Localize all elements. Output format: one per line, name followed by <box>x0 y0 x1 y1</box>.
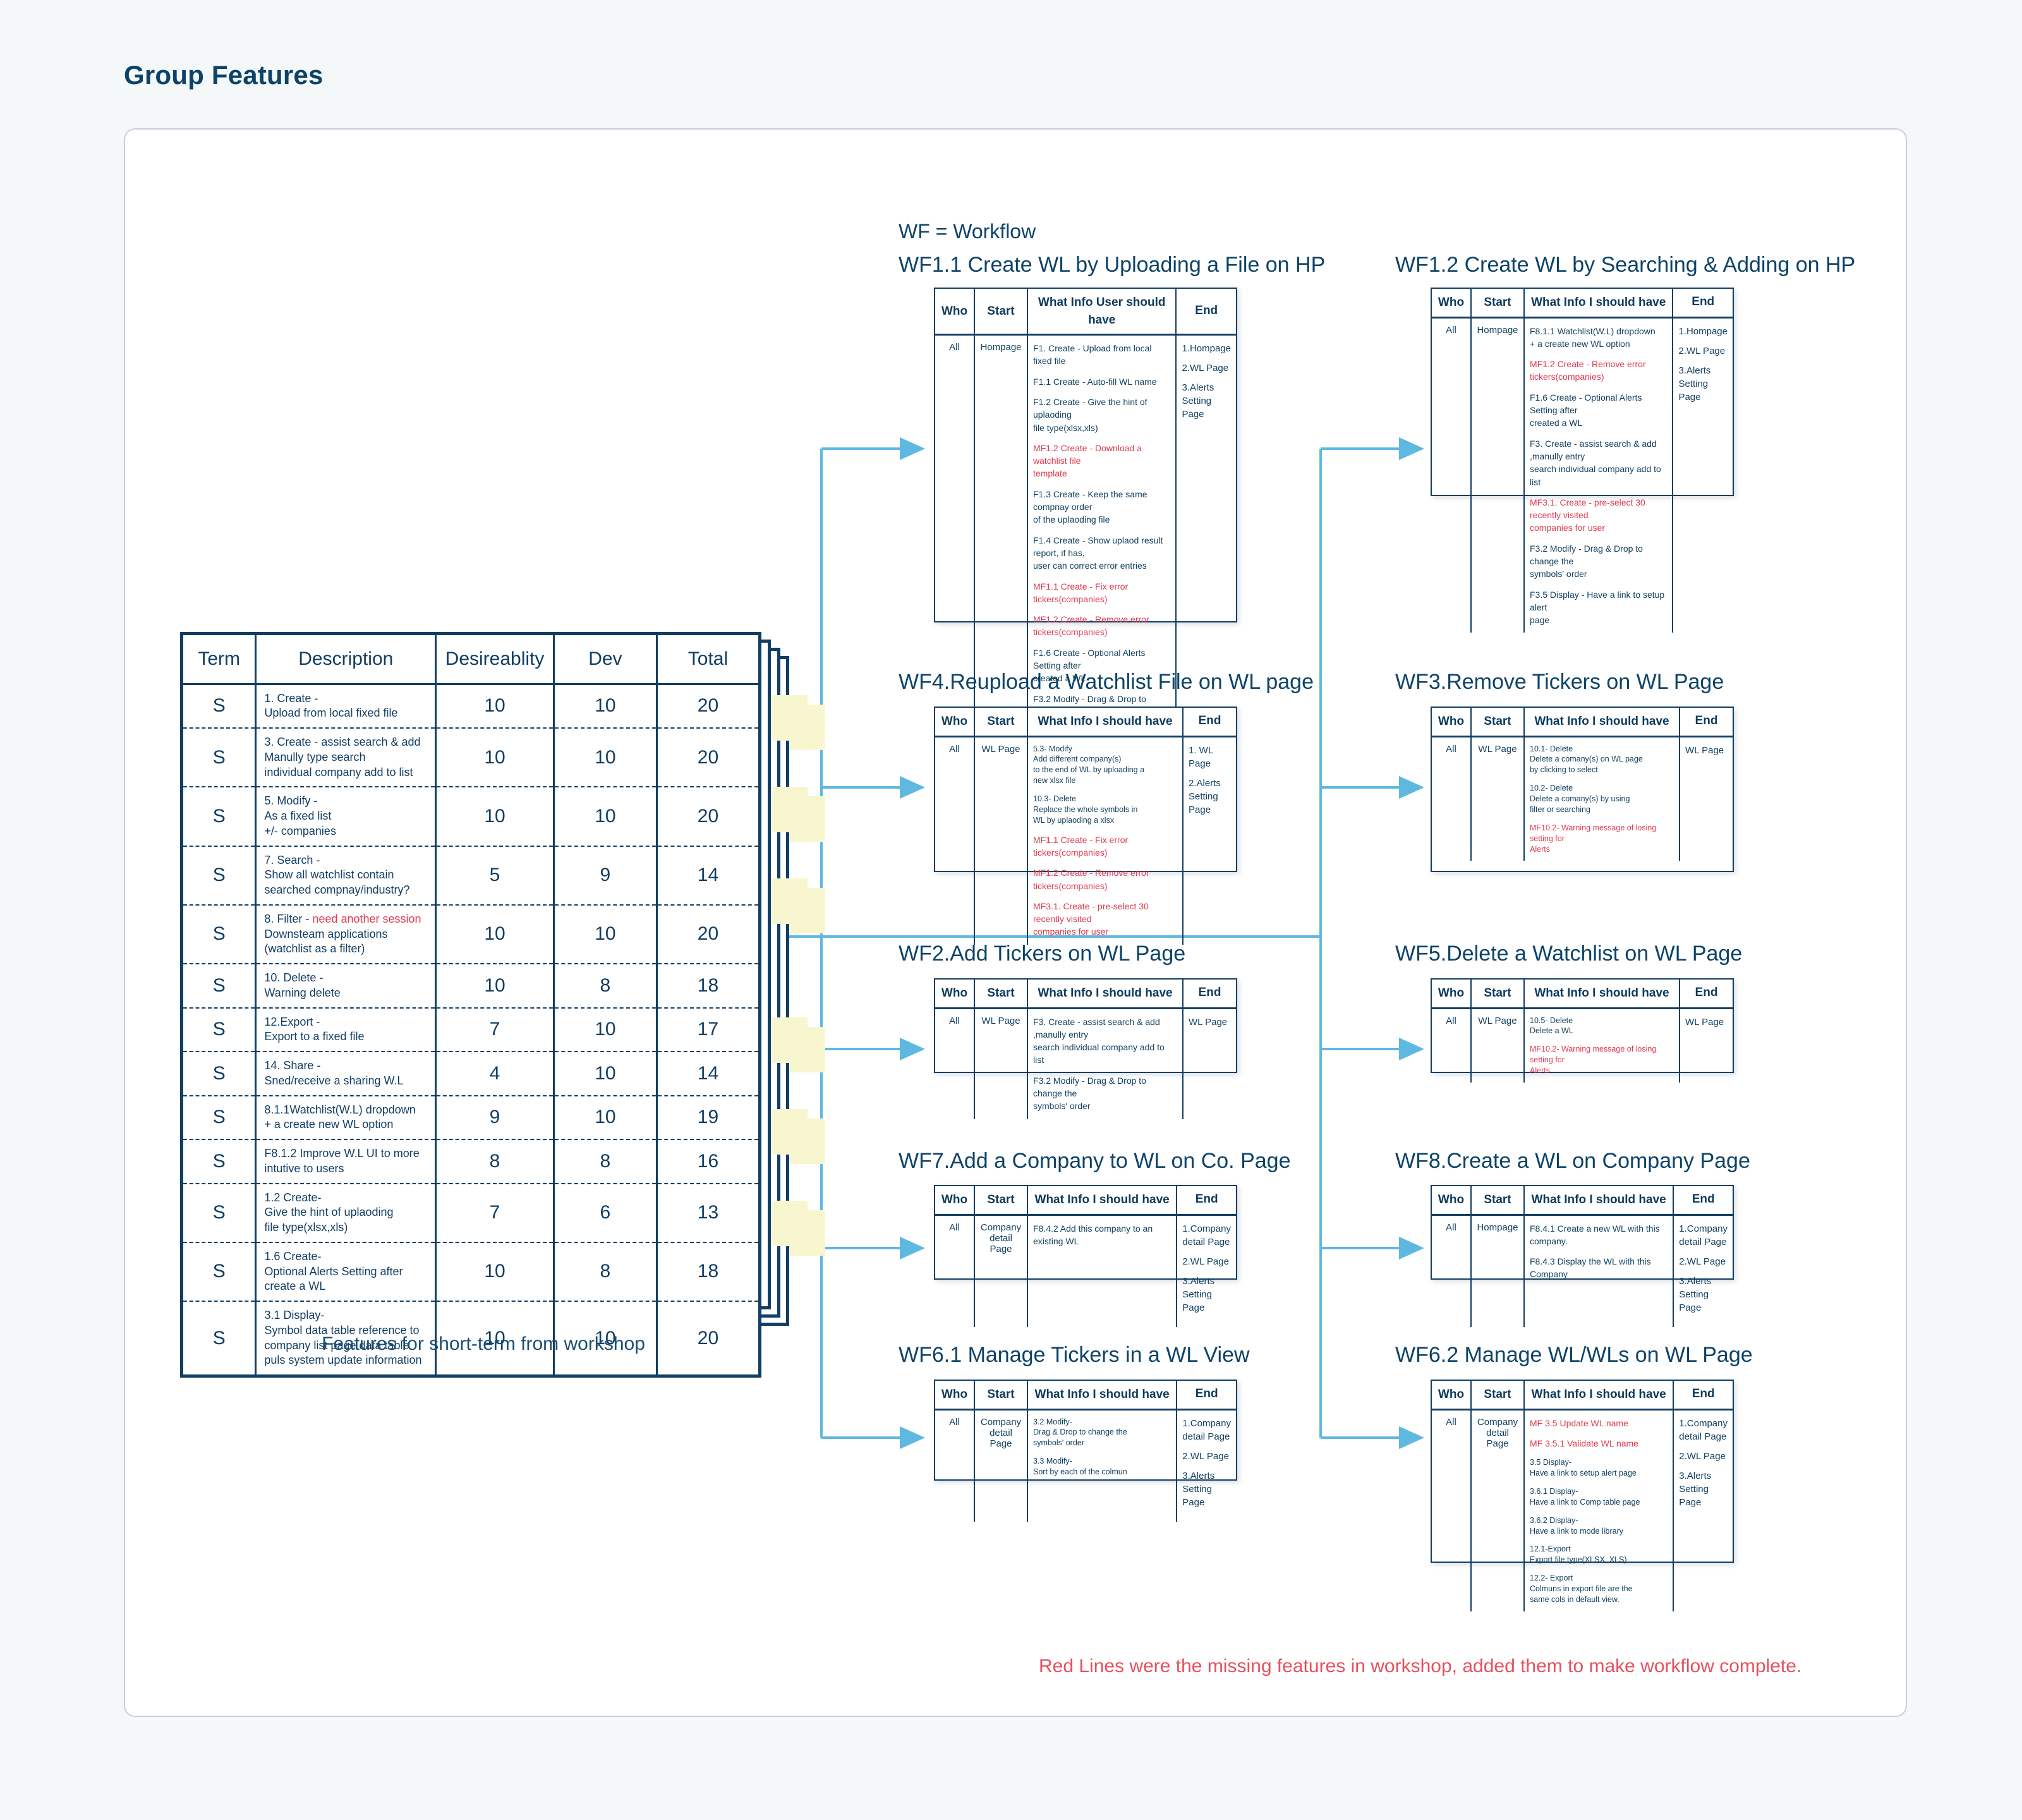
workflow-body-row: AllWL Page10.1- Delete Delete a comany(s… <box>1432 736 1733 861</box>
workflow-col-header-who: Who <box>935 1186 974 1215</box>
cell-desireability: 10 <box>436 1242 554 1301</box>
workflow-col-header-start: Start <box>1471 1381 1524 1409</box>
cell-term: S <box>182 1096 256 1140</box>
workflow-col-header-end: End <box>1673 289 1733 317</box>
features-table-header-row: Term Description Desireablity Dev Total <box>182 634 760 684</box>
workflow-info-line: 3.3 Modify- Sort by each of the colmun <box>1033 1456 1171 1477</box>
cell-description: 5. Modify - As a fixed list +/- companie… <box>256 787 436 846</box>
features-caption: Features for short-term from workshop <box>180 1333 787 1355</box>
workflow-col-header-start: Start <box>974 1381 1027 1409</box>
cell-total: 19 <box>657 1096 760 1140</box>
workflow-end: 1.Company detail Page2.WL Page3.Alerts S… <box>1177 1409 1236 1522</box>
workflow-end-line: 2.WL Page <box>1679 1450 1728 1463</box>
cell-term: S <box>182 964 256 1008</box>
cell-term: S <box>182 787 256 846</box>
col-header-dev: Dev <box>554 634 657 684</box>
workflow-body-row: AllWL Page5.3- Modify Add different comp… <box>935 736 1236 945</box>
workflow-who: All <box>1432 1409 1471 1611</box>
workflow-end: 1.Hompage2.WL Page3.Alerts Setting Page <box>1673 317 1733 633</box>
workflow-end-line: 3.Alerts Setting Page <box>1182 1275 1231 1314</box>
cell-dev: 8 <box>554 964 657 1008</box>
workflow-info: 10.1- Delete Delete a comany(s) on WL pa… <box>1524 736 1680 861</box>
workflow-col-header-info: What Info I should have <box>1524 289 1673 317</box>
cell-desireability: 4 <box>436 1052 554 1096</box>
col-header-description: Description <box>256 634 436 684</box>
workflow-col-header-start: Start <box>1471 289 1524 317</box>
cell-desireability: 10 <box>436 787 554 846</box>
workflow-header-row: WhoStartWhat Info I should haveEnd <box>935 1186 1236 1215</box>
table-row: S1.2 Create- Give the hint of uplaoding … <box>182 1184 760 1242</box>
col-header-total: Total <box>657 634 760 684</box>
workflow-info-line: 3.6.1 Display- Have a link to Comp table… <box>1530 1486 1668 1508</box>
description-note: need another session <box>312 913 421 925</box>
workflow-start: Hompage <box>1471 317 1524 633</box>
table-row: SF8.1.2 Improve W.L UI to more intutive … <box>182 1139 760 1184</box>
workflow-info-line: 5.3- Modify Add different company(s) to … <box>1033 744 1177 787</box>
workflow-col-header-end: End <box>1177 1381 1236 1409</box>
cell-total: 18 <box>657 1242 760 1301</box>
workflow-info-line: MF1.2 Create - Remove error tickers(comp… <box>1033 866 1177 892</box>
cell-description: 10. Delete - Warning delete <box>256 964 436 1008</box>
cell-description: 12.Export - Export to a fixed file <box>256 1008 436 1052</box>
workflow-table-wf2: WhoStartWhat Info I should haveEndAllWL … <box>934 978 1237 1073</box>
cell-total: 20 <box>657 684 760 728</box>
workflow-col-header-info: What Info I should have <box>1027 1186 1177 1215</box>
cell-total: 17 <box>657 1008 760 1052</box>
cell-description: F8.1.2 Improve W.L UI to more intutive t… <box>256 1139 436 1184</box>
workflow-info-line: F8.4.1 Create a new WL with this company… <box>1530 1222 1668 1248</box>
cell-term: S <box>182 905 256 964</box>
cell-desireability: 10 <box>436 684 554 728</box>
workflow-who: All <box>1432 1008 1471 1083</box>
table-row: S1.6 Create- Optional Alerts Setting aft… <box>182 1242 760 1301</box>
workflow-col-header-start: Start <box>974 289 1027 335</box>
highlight-strip-b <box>790 705 825 1337</box>
features-table: Term Description Desireablity Dev Total … <box>180 632 761 1378</box>
workflow-start: Company detail Page <box>974 1215 1027 1327</box>
diagram-page: Group Features <box>0 0 2022 1820</box>
workflow-end-line: 1.Company detail Page <box>1679 1222 1728 1249</box>
workflow-info: 5.3- Modify Add different company(s) to … <box>1027 736 1183 945</box>
cell-total: 14 <box>657 1052 760 1096</box>
workflow-info-line: MF1.2 Create - Remove error tickers(comp… <box>1033 613 1170 639</box>
workflow-end-line: 1.Hompage <box>1182 342 1231 355</box>
workflow-title-wf8: WF8.Create a WL on Company Page <box>1395 1149 1750 1174</box>
workflow-info-line: MF3.1. Create - pre-select 30 recently v… <box>1033 900 1177 938</box>
workflow-body-row: AllHompageF8.4.1 Create a new WL with th… <box>1432 1215 1733 1327</box>
workflow-col-header-info: What Info I should have <box>1027 1381 1177 1409</box>
workflow-start: WL Page <box>974 736 1027 945</box>
workflow-info-line: F1.1 Create - Auto-fill WL name <box>1033 375 1170 388</box>
workflow-info: MF 3.5 Update WL nameMF 3.5.1 Validate W… <box>1524 1409 1673 1611</box>
workflow-table-wf61: WhoStartWhat Info I should haveEndAllCom… <box>934 1380 1237 1481</box>
workflow-info-line: MF 3.5 Update WL name <box>1530 1417 1668 1429</box>
workflow-table-wf11: WhoStartWhat Info User should haveEndAll… <box>934 288 1237 622</box>
table-row: S7. Search - Show all watchlist contain … <box>182 846 760 905</box>
red-lines-footnote: Red Lines were the missing features in w… <box>1039 1656 1801 1677</box>
workflow-info-line: F1.4 Create - Show uplaod result report,… <box>1033 534 1170 573</box>
workflow-col-header-info: What Info User should have <box>1027 289 1176 335</box>
workflow-info-line: F1.6 Create - Optional Alerts Setting af… <box>1530 391 1667 430</box>
features-table-body: S1. Create - Upload from local fixed fil… <box>182 684 760 1376</box>
workflow-header-row: WhoStartWhat Info I should haveEnd <box>1432 289 1733 317</box>
workflow-col-header-info: What Info I should have <box>1524 1186 1673 1215</box>
cell-total: 20 <box>657 728 760 787</box>
workflow-col-header-info: What Info I should have <box>1027 708 1183 736</box>
workflow-start: WL Page <box>1471 736 1524 861</box>
workflow-info: F8.4.2 Add this company to an existing W… <box>1027 1215 1177 1327</box>
workflow-end: 1.Company detail Page2.WL Page3.Alerts S… <box>1673 1215 1733 1327</box>
workflow-end-line: 2.WL Page <box>1182 1255 1231 1268</box>
cell-term: S <box>182 1242 256 1301</box>
workflow-info: F8.1.1 Watchlist(W.L) dropdown + a creat… <box>1524 317 1673 633</box>
workflow-info-line: 10.5- Delete Delete a WL <box>1530 1016 1674 1037</box>
table-row: S14. Share - Sned/receive a sharing W.L4… <box>182 1052 760 1096</box>
workflow-col-header-info: What Info I should have <box>1524 980 1680 1008</box>
workflow-info-line: F3.2 Modify - Drag & Drop to change the … <box>1033 1074 1177 1113</box>
workflow-end-line: 1.Company detail Page <box>1182 1222 1231 1249</box>
workflow-header-row: WhoStartWhat Info I should haveEnd <box>935 980 1236 1008</box>
col-header-desireability: Desireablity <box>436 634 554 684</box>
workflow-col-header-start: Start <box>1471 708 1524 736</box>
workflow-info-line: 10.3- Delete Replace the whole symbols i… <box>1033 794 1177 826</box>
workflow-info: 10.5- Delete Delete a WLMF10.2- Warning … <box>1524 1008 1680 1083</box>
workflow-col-header-who: Who <box>935 1381 974 1409</box>
workflow-col-header-who: Who <box>1432 1186 1471 1215</box>
workflow-header-row: WhoStartWhat Info I should haveEnd <box>1432 708 1733 736</box>
cell-term: S <box>182 846 256 905</box>
cell-description: 14. Share - Sned/receive a sharing W.L <box>256 1052 436 1096</box>
workflow-body-row: AllCompany detail PageMF 3.5 Update WL n… <box>1432 1409 1733 1611</box>
cell-term: S <box>182 728 256 787</box>
workflow-who: All <box>1432 736 1471 861</box>
workflow-title-wf2: WF2.Add Tickers on WL Page <box>899 942 1185 966</box>
workflow-body-row: AllCompany detail Page3.2 Modify- Drag &… <box>935 1409 1236 1522</box>
cell-term: S <box>182 1184 256 1242</box>
cell-dev: 10 <box>554 1008 657 1052</box>
workflow-end: WL Page <box>1183 1008 1236 1119</box>
workflow-info-line: F8.4.3 Display the WL with this Company <box>1530 1255 1668 1281</box>
workflow-table-wf12: WhoStartWhat Info I should haveEndAllHom… <box>1431 288 1734 496</box>
workflow-table-wf7: WhoStartWhat Info I should haveEndAllCom… <box>934 1185 1237 1280</box>
workflow-end: 1.Company detail Page2.WL Page3.Alerts S… <box>1673 1409 1733 1611</box>
workflow-start: WL Page <box>1471 1008 1524 1083</box>
workflow-info-line: MF1.1 Create - Fix error tickers(compani… <box>1033 834 1177 859</box>
workflow-info-line: 12.2- Export Colmuns in export file are … <box>1530 1573 1668 1605</box>
cell-dev: 8 <box>554 1139 657 1184</box>
workflow-end-line: 2.WL Page <box>1182 361 1231 375</box>
workflow-header-row: WhoStartWhat Info I should haveEnd <box>935 1381 1236 1409</box>
cell-dev: 9 <box>554 846 657 905</box>
workflow-table-wf62: WhoStartWhat Info I should haveEndAllCom… <box>1431 1380 1734 1563</box>
workflow-end-line: 2.WL Page <box>1678 344 1728 358</box>
workflow-end: 1. WL Page2.Alerts Setting Page <box>1183 736 1236 945</box>
workflow-info-line: MF 3.5.1 Validate WL name <box>1530 1437 1668 1450</box>
workflow-who: All <box>935 1215 974 1327</box>
workflow-who: All <box>935 736 974 945</box>
workflow-table-wf3: WhoStartWhat Info I should haveEndAllWL … <box>1431 707 1734 872</box>
workflow-header-row: WhoStartWhat Info User should haveEnd <box>935 289 1236 335</box>
workflow-title-wf12: WF1.2 Create WL by Searching & Adding on… <box>1395 253 1855 277</box>
workflow-end-line: 1. WL Page <box>1189 744 1231 770</box>
workflow-header-row: WhoStartWhat Info I should haveEnd <box>935 708 1236 736</box>
workflow-end: 1.Company detail Page2.WL Page3.Alerts S… <box>1177 1215 1236 1327</box>
workflow-end-line: 2.Alerts Setting Page <box>1189 777 1231 816</box>
workflow-col-header-who: Who <box>1432 708 1471 736</box>
cell-description: 7. Search - Show all watchlist contain s… <box>256 846 436 905</box>
cell-dev: 6 <box>554 1184 657 1242</box>
cell-description: 8. Filter - need another session Downste… <box>256 905 436 964</box>
cell-desireability: 9 <box>436 1096 554 1140</box>
workflow-info-line: F1.2 Create - Give the hint of uplaoding… <box>1033 396 1170 434</box>
workflow-info: F8.4.1 Create a new WL with this company… <box>1524 1215 1673 1327</box>
workflow-info-line: 3.2 Modify- Drag & Drop to change the sy… <box>1033 1417 1171 1449</box>
cell-dev: 10 <box>554 1052 657 1096</box>
cell-total: 20 <box>657 905 760 964</box>
workflow-title-wf3: WF3.Remove Tickers on WL Page <box>1395 670 1724 695</box>
workflow-end-line: 3.Alerts Setting Page <box>1679 1469 1728 1509</box>
workflow-end-line: 3.Alerts Setting Page <box>1678 364 1728 404</box>
page-title: Group Features <box>124 60 324 90</box>
cell-dev: 10 <box>554 684 657 728</box>
workflow-title-wf61: WF6.1 Manage Tickers in a WL View <box>899 1343 1250 1368</box>
workflow-col-header-info: What Info I should have <box>1027 980 1183 1008</box>
workflow-end-line: 3.Alerts Setting Page <box>1182 381 1231 421</box>
cell-desireability: 10 <box>436 905 554 964</box>
workflow-table-wf8: WhoStartWhat Info I should haveEndAllHom… <box>1431 1185 1734 1280</box>
workflow-info-line: 12.1-Export Export file type(XLSX, XLS) <box>1530 1544 1668 1565</box>
workflow-info-line: 10.1- Delete Delete a comany(s) on WL pa… <box>1530 744 1674 776</box>
workflow-info-line: MF1.2 Create - Remove error tickers(comp… <box>1530 358 1667 384</box>
workflow-col-header-end: End <box>1680 980 1733 1008</box>
workflow-end: WL Page <box>1680 736 1733 861</box>
table-row: S5. Modify - As a fixed list +/- compani… <box>182 787 760 846</box>
workflow-end-line: WL Page <box>1685 744 1728 757</box>
workflow-col-header-info: What Info I should have <box>1524 708 1680 736</box>
workflow-info-line: F3.5 Display - Have a link to setup aler… <box>1530 588 1667 627</box>
workflow-end-line: 3.Alerts Setting Page <box>1182 1469 1231 1509</box>
workflow-col-header-who: Who <box>1432 289 1471 317</box>
workflow-col-header-start: Start <box>974 980 1027 1008</box>
cell-total: 20 <box>657 787 760 846</box>
cell-desireability: 8 <box>436 1139 554 1184</box>
cell-description: 1.6 Create- Optional Alerts Setting afte… <box>256 1242 436 1301</box>
workflow-col-header-who: Who <box>935 289 974 335</box>
workflow-info-line: F1.3 Create - Keep the same compnay orde… <box>1033 488 1170 526</box>
table-row: S10. Delete - Warning delete10818 <box>182 964 760 1008</box>
cell-dev: 8 <box>554 1242 657 1301</box>
workflow-col-header-end: End <box>1183 980 1236 1008</box>
workflow-info-line: F8.1.1 Watchlist(W.L) dropdown + a creat… <box>1530 325 1667 351</box>
workflow-info: F3. Create - assist search & add ,manull… <box>1027 1008 1183 1119</box>
workflow-info-line: F3. Create - assist search & add ,manull… <box>1033 1016 1177 1067</box>
cell-total: 16 <box>657 1139 760 1184</box>
workflow-title-wf7: WF7.Add a Company to WL on Co. Page <box>899 1149 1290 1174</box>
cell-desireability: 5 <box>436 846 554 905</box>
table-row: S8. Filter - need another session Downst… <box>182 905 760 964</box>
cell-description: 1. Create - Upload from local fixed file <box>256 684 436 728</box>
workflow-who: All <box>935 1008 974 1119</box>
workflow-header-row: WhoStartWhat Info I should haveEnd <box>1432 1186 1733 1215</box>
workflow-legend: WF = Workflow <box>899 220 1036 243</box>
workflow-col-header-end: End <box>1183 708 1236 736</box>
workflow-col-header-end: End <box>1177 1186 1236 1215</box>
workflow-col-header-who: Who <box>1432 980 1471 1008</box>
table-row: S3. Create - assist search & add Manully… <box>182 728 760 787</box>
workflow-end-line: 2.WL Page <box>1679 1255 1728 1268</box>
workflow-end: WL Page <box>1680 1008 1733 1083</box>
table-row: S1. Create - Upload from local fixed fil… <box>182 684 760 728</box>
workflow-body-row: AllWL Page10.5- Delete Delete a WLMF10.2… <box>1432 1008 1733 1083</box>
workflow-title-wf62: WF6.2 Manage WL/WLs on WL Page <box>1395 1343 1753 1368</box>
cell-term: S <box>182 1052 256 1096</box>
workflow-col-header-info: What Info I should have <box>1524 1381 1673 1409</box>
workflow-start: Company detail Page <box>1471 1409 1524 1611</box>
cell-dev: 10 <box>554 1096 657 1140</box>
workflow-header-row: WhoStartWhat Info I should haveEnd <box>1432 980 1733 1008</box>
workflow-who: All <box>1432 317 1471 633</box>
workflow-start: WL Page <box>974 1008 1027 1119</box>
workflow-info-line: F8.4.2 Add this company to an existing W… <box>1033 1222 1171 1248</box>
workflow-info-line: F1. Create - Upload from local fixed fil… <box>1033 342 1170 368</box>
cell-total: 14 <box>657 846 760 905</box>
workflow-info: 3.2 Modify- Drag & Drop to change the sy… <box>1027 1409 1177 1522</box>
workflow-info-line: F3.2 Modify - Drag & Drop to change the … <box>1530 542 1667 581</box>
cell-dev: 10 <box>554 787 657 846</box>
workflow-col-header-end: End <box>1176 289 1236 335</box>
cell-dev: 10 <box>554 728 657 787</box>
workflow-info-line: 3.5 Display- Have a link to setup alert … <box>1530 1457 1668 1479</box>
cell-total: 18 <box>657 964 760 1008</box>
workflow-start: Company detail Page <box>974 1409 1027 1522</box>
cell-desireability: 7 <box>436 1008 554 1052</box>
workflow-end-line: 1.Company detail Page <box>1182 1417 1231 1443</box>
workflow-info-line: MF10.2- Warning message of losing settin… <box>1530 1044 1674 1076</box>
cell-dev: 10 <box>554 905 657 964</box>
workflow-table-wf4: WhoStartWhat Info I should haveEndAllWL … <box>934 707 1237 872</box>
workflow-who: All <box>935 1409 974 1522</box>
workflow-info-line: 10.2- Delete Delete a comany(s) by using… <box>1530 783 1674 815</box>
workflow-col-header-end: End <box>1673 1186 1733 1215</box>
cell-description: 8.1.1Watchlist(W.L) dropdown + a create … <box>256 1096 436 1140</box>
workflow-col-header-end: End <box>1680 708 1733 736</box>
workflow-info-line: MF1.2 Create - Download a watchlist file… <box>1033 442 1170 480</box>
cell-term: S <box>182 1139 256 1184</box>
workflow-end-line: 3.Alerts Setting Page <box>1679 1275 1728 1314</box>
workflow-body-row: AllWL PageF3. Create - assist search & a… <box>935 1008 1236 1119</box>
workflow-col-header-start: Start <box>1471 980 1524 1008</box>
workflow-end-line: WL Page <box>1189 1016 1231 1029</box>
workflow-info-line: MF10.2- Warning message of losing settin… <box>1530 823 1674 855</box>
workflow-title-wf5: WF5.Delete a Watchlist on WL Page <box>1395 942 1742 966</box>
workflow-info-line: MF1.1 Create - Fix error tickers(compani… <box>1033 580 1170 606</box>
workflow-end-line: 2.WL Page <box>1182 1450 1231 1463</box>
table-row: S12.Export - Export to a fixed file71017 <box>182 1008 760 1052</box>
workflow-col-header-start: Start <box>1471 1186 1524 1215</box>
description-rest: Downsteam applications (watchlist as a f… <box>264 928 387 955</box>
cell-total: 13 <box>657 1184 760 1242</box>
cell-term: S <box>182 684 256 728</box>
workflow-info-line: MF3.1. Create - pre-select 30 recently v… <box>1530 496 1667 535</box>
workflow-title-wf11: WF1.1 Create WL by Uploading a File on H… <box>899 253 1325 277</box>
workflow-col-header-who: Who <box>1432 1381 1471 1409</box>
workflow-info-line: 3.6.2 Display- Have a link to mode libra… <box>1530 1515 1668 1537</box>
workflow-header-row: WhoStartWhat Info I should haveEnd <box>1432 1381 1733 1409</box>
workflow-body-row: AllHompageF8.1.1 Watchlist(W.L) dropdown… <box>1432 317 1733 633</box>
workflow-title-wf4: WF4.Reupload a Watchlist File on WL page <box>899 670 1314 695</box>
workflow-col-header-start: Start <box>974 1186 1027 1215</box>
workflow-end-line: 1.Hompage <box>1678 325 1728 338</box>
cell-desireability: 7 <box>436 1184 554 1242</box>
table-row: S8.1.1Watchlist(W.L) dropdown + a create… <box>182 1096 760 1140</box>
cell-term: S <box>182 1008 256 1052</box>
workflow-body-row: AllCompany detail PageF8.4.2 Add this co… <box>935 1215 1236 1327</box>
cell-desireability: 10 <box>436 964 554 1008</box>
workflow-col-header-who: Who <box>935 708 974 736</box>
workflow-table-wf5: WhoStartWhat Info I should haveEndAllWL … <box>1431 978 1734 1073</box>
workflow-end-line: WL Page <box>1685 1016 1728 1029</box>
cell-desireability: 10 <box>436 728 554 787</box>
workflow-col-header-end: End <box>1673 1381 1733 1409</box>
workflow-col-header-who: Who <box>935 980 974 1008</box>
col-header-term: Term <box>182 634 256 684</box>
cell-description: 1.2 Create- Give the hint of uplaoding f… <box>256 1184 436 1242</box>
workflow-who: All <box>1432 1215 1471 1327</box>
workflow-col-header-start: Start <box>974 708 1027 736</box>
workflow-start: Hompage <box>1471 1215 1524 1327</box>
workflow-info-line: F3. Create - assist search & add ,manull… <box>1530 437 1667 488</box>
workflow-end-line: 1.Company detail Page <box>1679 1417 1728 1443</box>
cell-description: 3. Create - assist search & add Manully … <box>256 728 436 787</box>
